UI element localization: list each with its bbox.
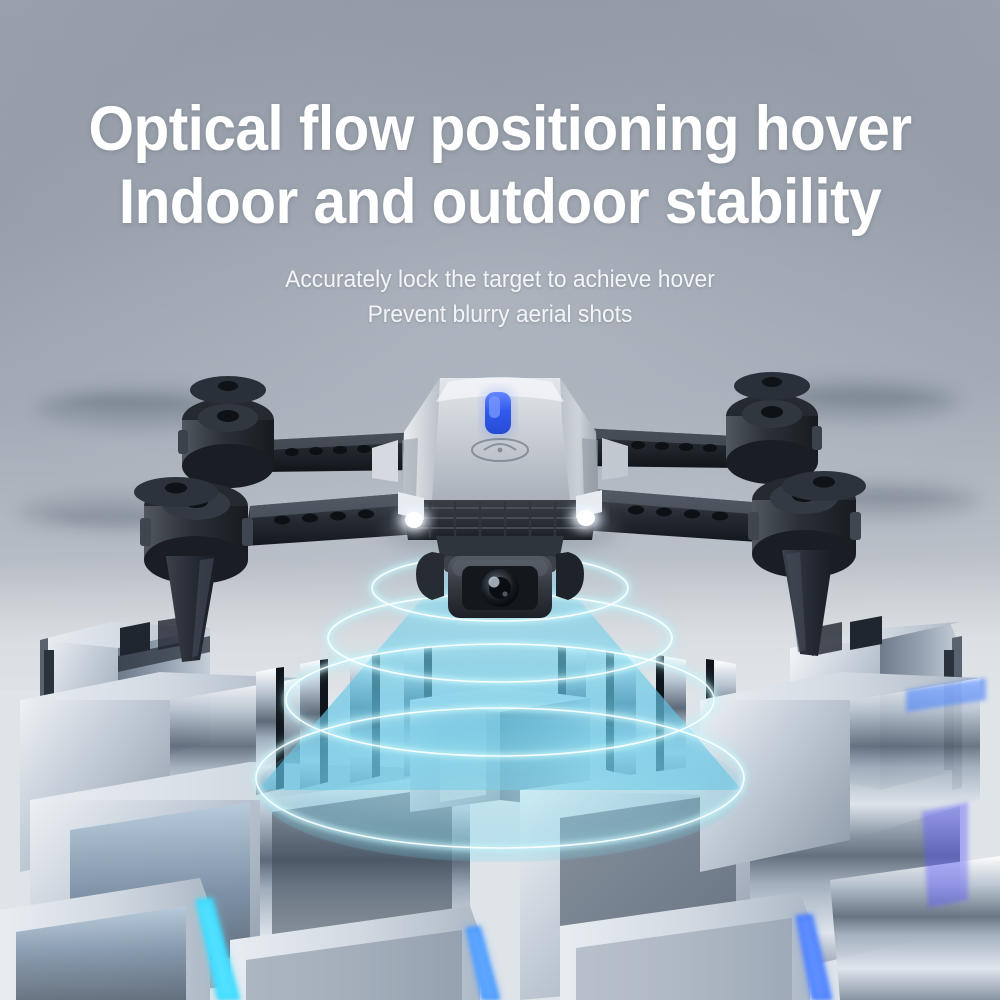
motor-rear-right [726,394,822,484]
gimbal-arm-right [556,552,584,600]
subheadline-line-1: Accurately lock the target to achieve ho… [25,266,975,294]
subheadline-line-2: Prevent blurry aerial shots [25,301,975,329]
motor-rear-left [178,398,274,488]
propeller-hub-front-left [134,477,218,507]
gimbal-arm-left [416,552,444,600]
drone-body [372,377,628,558]
landing-leg-right [782,550,834,656]
landing-leg-left [166,556,218,662]
headline-line-1: Optical flow positioning hover [35,97,965,161]
propeller-hub-rear-left [190,376,266,404]
propeller-hub-rear-right [734,372,810,400]
propeller-hub-front-right [782,471,866,501]
gimbal-camera [416,536,584,618]
headline-line-2: Indoor and outdoor stability [35,170,965,234]
product-banner: Optical flow positioning hover Indoor an… [0,0,1000,1000]
